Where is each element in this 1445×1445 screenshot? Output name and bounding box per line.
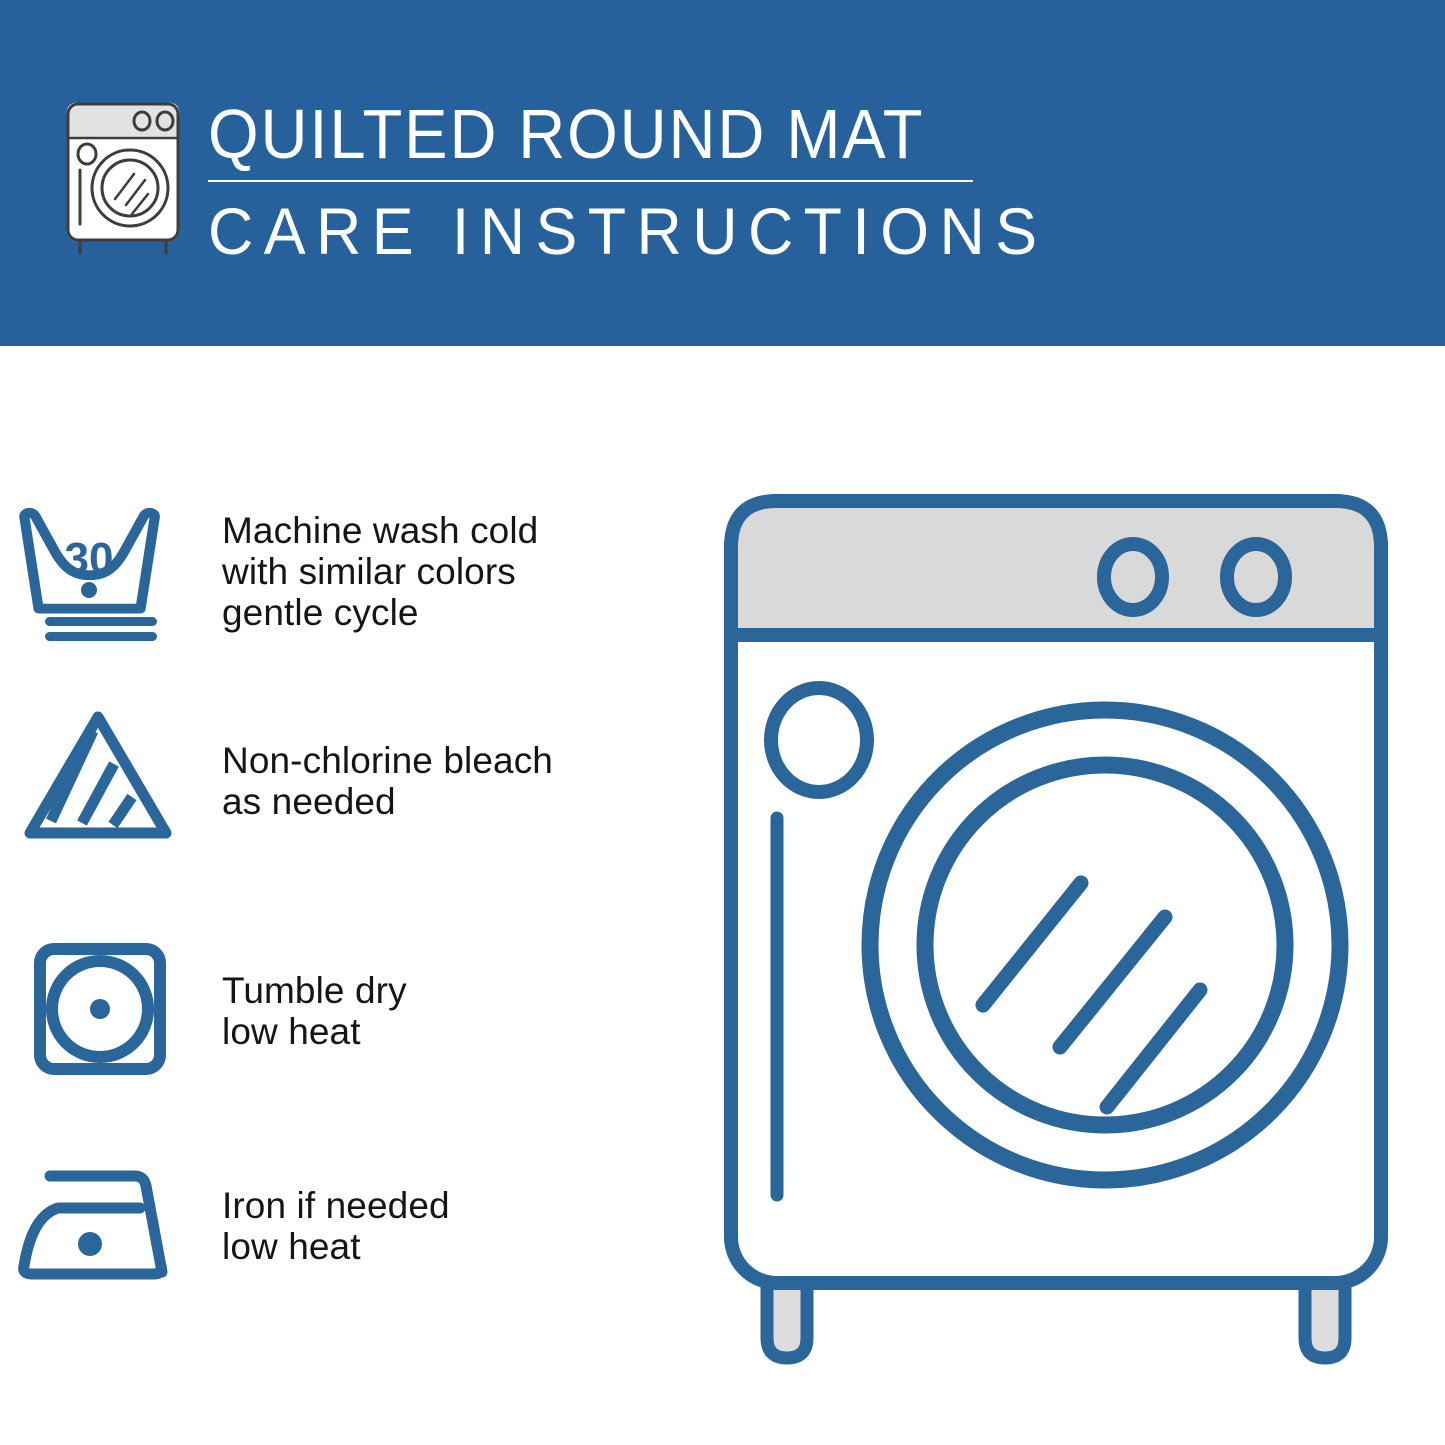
care-row-machine-wash: 30 Machine wash cold with similar colors… (0, 481, 700, 661)
care-row-tumble-dry: Tumble dry low heat (0, 921, 700, 1101)
svg-text:30: 30 (65, 534, 114, 583)
page-subtitle: CARE INSTRUCTIONS (208, 194, 959, 268)
header-text-block: QUILTED ROUND MAT CARE INSTRUCTIONS (208, 96, 998, 268)
care-row-bleach: Non-chlorine bleach as needed (0, 691, 700, 871)
title-divider (208, 180, 973, 182)
washing-machine-illustration (705, 465, 1415, 1385)
washing-machine-icon (58, 98, 188, 258)
bleach-triangle-icon (0, 694, 200, 869)
care-label-bleach: Non-chlorine bleach as needed (200, 740, 553, 822)
care-label-iron: Iron if needed low heat (200, 1185, 450, 1267)
tumble-dry-icon (0, 924, 200, 1099)
care-instruction-list: 30 Machine wash cold with similar colors… (0, 346, 700, 1445)
iron-icon (0, 1139, 200, 1314)
care-label-machine-wash: Machine wash cold with similar colors ge… (200, 510, 538, 633)
header-banner: QUILTED ROUND MAT CARE INSTRUCTIONS (0, 0, 1445, 346)
care-row-iron: Iron if needed low heat (0, 1136, 700, 1316)
page-title: QUILTED ROUND MAT (208, 96, 943, 172)
care-instructions-page: QUILTED ROUND MAT CARE INSTRUCTIONS 30 (0, 0, 1445, 1445)
care-label-tumble-dry: Tumble dry low heat (200, 970, 407, 1052)
wash-tub-30-icon: 30 (0, 484, 200, 659)
